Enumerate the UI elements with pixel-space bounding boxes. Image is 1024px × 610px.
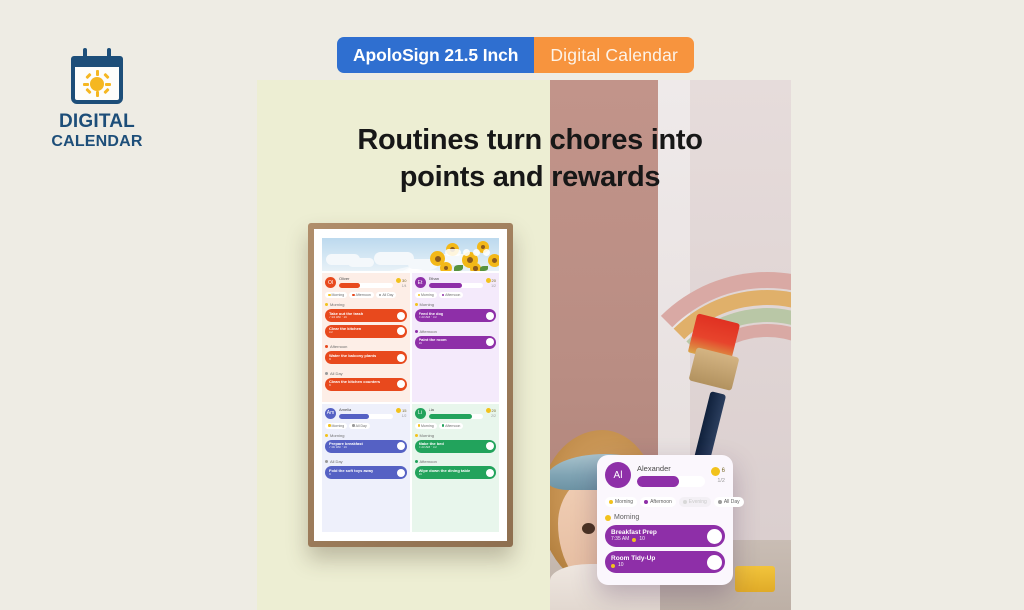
chip-dot-icon [609, 500, 613, 504]
task-meta: 7:30 AM · 10 [329, 446, 363, 450]
progress-label: 1/2 [491, 284, 496, 288]
time-filter-chips: MorningAfternoonAll Day [325, 292, 407, 298]
task-row[interactable]: Make the bed7:30 AM · 10 [415, 440, 497, 453]
product-badges: ApoloSign 21.5 Inch Digital Calendar [337, 37, 694, 73]
task-row[interactable]: Water the balcony plants5 [325, 351, 407, 364]
task-list: Breakfast Prep7:35 AM10Room Tidy-Up10 [605, 525, 725, 573]
task-toggle[interactable] [397, 469, 405, 477]
coin-icon [396, 408, 401, 413]
avatar[interactable]: Al [605, 462, 631, 488]
task-toggle[interactable] [486, 442, 494, 450]
leaf-icon [454, 265, 463, 271]
time-filter-chips: MorningAfternoon [415, 292, 497, 298]
section-header: All Day [325, 371, 407, 376]
chip-dot-icon [418, 424, 421, 427]
time-filter-chips: MorningAll Day [325, 423, 407, 429]
section-dot-icon [325, 434, 328, 437]
coin-badge: 15 [396, 408, 406, 413]
task-row[interactable]: Room Tidy-Up10 [605, 551, 725, 573]
coin-badge: 20 [486, 278, 496, 283]
task-points: 10 [639, 537, 645, 543]
task-title: Fold the soft toys away [329, 469, 373, 473]
banner-control-0[interactable] [445, 249, 461, 256]
time-filter-chips: MorningAfternoonEveningAll Day [605, 497, 725, 507]
calendar-sun-icon [68, 48, 126, 106]
task-toggle[interactable] [707, 529, 722, 544]
member-column: AmAmelia151/2MorningAll DayMorningPrepar… [322, 404, 410, 533]
member-name: Amelia [339, 408, 393, 412]
progress-label: 1/2 [402, 414, 407, 418]
task-meta: 7:35 AM10 [611, 537, 657, 543]
task-toggle[interactable] [397, 327, 405, 335]
task-meta: 10 [611, 563, 655, 569]
coin-count: 20 [492, 408, 496, 413]
task-meta: 7:15 AM · 10 [329, 316, 363, 320]
progress-bar [429, 283, 483, 288]
task-row[interactable]: Clear the kitchen10 [325, 325, 407, 338]
promo-page: DIGITAL CALENDAR ApoloSign 21.5 Inch Dig… [0, 0, 1024, 610]
filter-chip[interactable]: All Day [376, 292, 397, 298]
sunflower-sky-banner [322, 238, 499, 271]
coin-icon [711, 467, 720, 476]
calendar-screen: OlOliver301/4MorningAfternoonAll DayMorn… [322, 238, 499, 532]
coin-count: 15 [402, 408, 406, 413]
filter-chip[interactable]: Afternoon [349, 292, 374, 298]
chip-dot-icon [352, 424, 355, 427]
task-toggle[interactable] [397, 442, 405, 450]
task-title: Clear the kitchen [329, 327, 361, 331]
member-column: EtEthan201/2MorningAfternoonMorningFeed … [412, 273, 500, 402]
filter-chip[interactable]: All Day [349, 423, 370, 429]
section-dot-icon [325, 372, 328, 375]
task-time: 7:35 AM [611, 537, 629, 543]
filter-chip[interactable]: Afternoon [640, 497, 676, 507]
section-header: Afternoon [415, 459, 497, 464]
member-header: OlOliver301/4 [325, 277, 407, 288]
sunflower-center [435, 256, 441, 262]
progress-bar-fill [637, 476, 679, 487]
coin-icon [611, 564, 615, 568]
task-toggle[interactable] [397, 312, 405, 320]
filter-chip[interactable]: Morning [325, 292, 347, 298]
filter-chip[interactable]: Morning [605, 497, 637, 507]
member-name: Lia [429, 408, 483, 412]
coin-icon [486, 408, 491, 413]
task-meta: 5 [329, 384, 380, 388]
time-filter-chips: MorningAfternoon [415, 423, 497, 429]
progress-bar-fill [339, 283, 360, 288]
task-title: Paint the room [419, 338, 447, 342]
member-name: Alexander [637, 464, 705, 473]
chip-dot-icon [328, 424, 331, 427]
member-grid: OlOliver301/4MorningAfternoonAll DayMorn… [322, 271, 499, 532]
banner-control-1[interactable] [463, 249, 470, 256]
task-row[interactable]: Wipe down the dining table10 [415, 466, 497, 479]
task-toggle[interactable] [486, 469, 494, 477]
chip-dot-icon [328, 294, 331, 297]
section-header: Morning [415, 433, 497, 438]
progress-bar [429, 414, 483, 419]
progress-label: 1/2 [717, 478, 725, 484]
task-meta: 5 [329, 473, 373, 477]
progress-label: 1/4 [402, 284, 407, 288]
member-header: EtEthan201/2 [415, 277, 497, 288]
task-row[interactable]: Breakfast Prep7:35 AM10 [605, 525, 725, 547]
chip-dot-icon [718, 500, 722, 504]
section-header: Morning [325, 433, 407, 438]
filter-chip[interactable]: All Day [714, 497, 744, 507]
coin-count: 20 [492, 278, 496, 283]
task-row[interactable]: Clean the kitchen counters5 [325, 378, 407, 391]
chip-dot-icon [418, 294, 421, 297]
section-dot-icon [415, 330, 418, 333]
task-row[interactable]: Paint the room10 [415, 336, 497, 349]
chip-dot-icon [442, 294, 445, 297]
cloud-icon [348, 258, 374, 267]
progress-bar [637, 476, 705, 487]
floating-member-card: Al Alexander 6 1/2 MorningAfternoonEveni… [597, 455, 733, 585]
filter-chip[interactable]: Evening [679, 497, 711, 507]
member-column: LiLia202/2MorningAfternoonMorningMake th… [412, 404, 500, 533]
section-dot-icon [415, 303, 418, 306]
task-meta: 7:30 AM · 10 [419, 316, 444, 320]
task-meta: 10 [329, 331, 361, 335]
avatar[interactable]: Ol [325, 277, 336, 288]
banner-control-2[interactable] [473, 249, 480, 256]
section-header: Morning [605, 514, 725, 521]
progress-bar-fill [339, 414, 369, 419]
filter-chip[interactable]: Morning [415, 292, 437, 298]
sunflower-center [473, 266, 477, 270]
task-row[interactable]: Fold the soft toys away5 [325, 466, 407, 479]
display-bezel: OlOliver301/4MorningAfternoonAll DayMorn… [314, 229, 507, 541]
member-header: LiLia202/2 [415, 408, 497, 419]
member-header: AmAmelia151/2 [325, 408, 407, 419]
avatar[interactable]: Am [325, 408, 336, 419]
leaf-icon [480, 266, 488, 271]
toy-crate [735, 566, 775, 592]
filter-chip[interactable]: Afternoon [439, 423, 464, 429]
task-title: Wipe down the dining table [419, 469, 471, 473]
section-header: Morning [325, 302, 407, 307]
progress-bar [339, 283, 393, 288]
framed-display: OlOliver301/4MorningAfternoonAll DayMorn… [308, 223, 513, 547]
chip-dot-icon [683, 500, 687, 504]
chip-dot-icon [379, 294, 382, 297]
banner-control-3[interactable] [483, 249, 490, 256]
section-title: Morning [614, 514, 639, 521]
badge-product-category[interactable]: Digital Calendar [534, 37, 694, 73]
task-title: Water the balcony plants [329, 354, 376, 358]
task-toggle[interactable] [486, 312, 494, 320]
badge-product-model[interactable]: ApoloSign 21.5 Inch [337, 37, 534, 73]
brand-logo: DIGITAL CALENDAR [47, 48, 147, 150]
member-name: Oliver [339, 277, 393, 281]
progress-label: 2/2 [491, 414, 496, 418]
coin-badge: 20 [486, 408, 496, 413]
filter-chip[interactable]: Afternoon [439, 292, 464, 298]
chip-dot-icon [644, 500, 648, 504]
task-row[interactable]: Take out the trash7:15 AM · 10 [325, 309, 407, 322]
section-header: Afternoon [415, 329, 497, 334]
coin-icon [396, 278, 401, 283]
section-header: Afternoon [325, 344, 407, 349]
section-dot-icon [325, 303, 328, 306]
task-toggle[interactable] [397, 380, 405, 388]
section-dot-icon [325, 345, 328, 348]
member-column: OlOliver301/4MorningAfternoonAll DayMorn… [322, 273, 410, 402]
filter-chip[interactable]: Morning [325, 423, 347, 429]
task-title: Clean the kitchen counters [329, 380, 380, 384]
task-meta: 7:30 AM · 10 [419, 446, 444, 450]
page-headline: Routines turn chores into points and rew… [330, 122, 730, 196]
member-name: Ethan [429, 277, 483, 281]
coin-badge: 6 [711, 467, 725, 476]
avatar[interactable]: Et [415, 277, 426, 288]
task-row[interactable]: Feed the dog7:30 AM · 10 [415, 309, 497, 322]
progress-bar [339, 414, 393, 419]
task-meta: 5 [329, 358, 376, 362]
section-dot-icon [415, 460, 418, 463]
task-row[interactable]: Prepare breakfast7:30 AM · 10 [325, 440, 407, 453]
member-header: Al Alexander 6 1/2 [605, 462, 725, 488]
brand-line-1: DIGITAL [47, 112, 147, 133]
avatar[interactable]: Li [415, 408, 426, 419]
task-toggle[interactable] [486, 338, 494, 346]
sun-icon [605, 515, 611, 521]
section-dot-icon [325, 460, 328, 463]
brand-line-2: CALENDAR [47, 133, 147, 150]
chip-dot-icon [352, 294, 355, 297]
task-meta: 10 [419, 342, 447, 346]
progress-bar-fill [429, 414, 472, 419]
progress-bar-fill [429, 283, 463, 288]
task-meta: 10 [419, 473, 471, 477]
task-toggle[interactable] [707, 555, 722, 570]
chip-dot-icon [442, 424, 445, 427]
coin-count: 30 [402, 278, 406, 283]
section-header: All Day [325, 459, 407, 464]
coin-count: 6 [722, 468, 725, 474]
filter-chip[interactable]: Morning [415, 423, 437, 429]
task-toggle[interactable] [397, 354, 405, 362]
section-dot-icon [415, 434, 418, 437]
section-header: Morning [415, 302, 497, 307]
coin-icon [486, 278, 491, 283]
task-points: 10 [618, 563, 624, 569]
coin-badge: 30 [396, 278, 406, 283]
coin-icon [632, 538, 636, 542]
